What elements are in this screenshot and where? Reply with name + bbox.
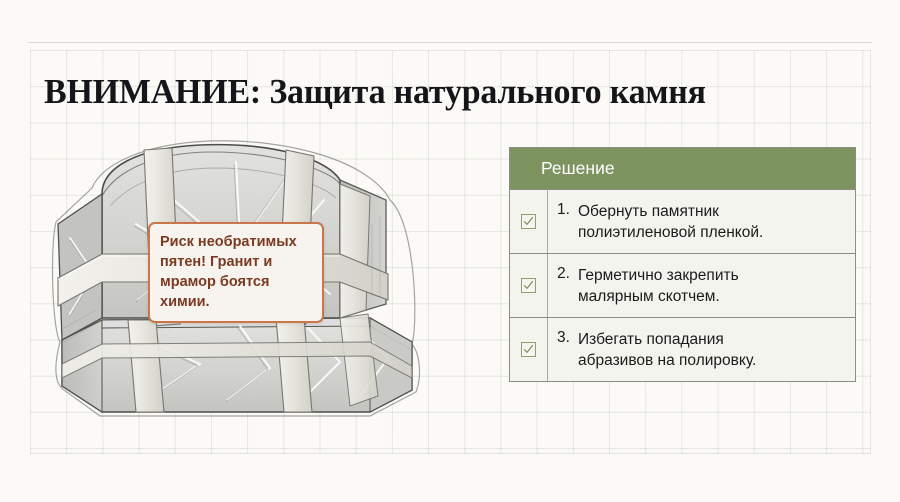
table-row[interactable]: 1. Обернуть памятник полиэтиленовой плен… (510, 190, 855, 254)
table-cell-number: 3. (548, 318, 578, 381)
table-cell-checkbox[interactable] (510, 318, 548, 381)
slide-canvas: ВНИМАНИЕ: Защита натурального камня (0, 0, 900, 502)
warning-callout: Риск необратимых пятен! Гранит и мрамор … (148, 222, 324, 323)
checked-checkbox-icon[interactable] (521, 214, 536, 229)
checked-checkbox-icon[interactable] (521, 342, 536, 357)
table-header-label: Решение (541, 158, 615, 179)
page-title: ВНИМАНИЕ: Защита натурального камня (44, 72, 839, 112)
table-cell-checkbox[interactable] (510, 254, 548, 317)
table-cell-number: 2. (548, 254, 578, 317)
table-cell-number: 1. (548, 190, 578, 253)
table-header-row: Решение (510, 148, 855, 190)
table-row[interactable]: 2. Герметично закрепить малярным скотчем… (510, 254, 855, 318)
table-row[interactable]: 3. Избегать попадания абразивов на полир… (510, 318, 855, 381)
warning-callout-text: Риск необратимых пятен! Гранит и мрамор … (160, 232, 312, 312)
solution-table: Решение 1. Обернуть памятник полиэтилено… (509, 147, 856, 382)
table-cell-text: Избегать попадания абразивов на полировк… (578, 318, 855, 381)
checked-checkbox-icon[interactable] (521, 278, 536, 293)
table-cell-checkbox[interactable] (510, 190, 548, 253)
table-cell-text: Герметично закрепить малярным скотчем. (578, 254, 855, 317)
grid-top-rule (28, 42, 872, 43)
table-cell-text: Обернуть памятник полиэтиленовой пленкой… (578, 190, 855, 253)
